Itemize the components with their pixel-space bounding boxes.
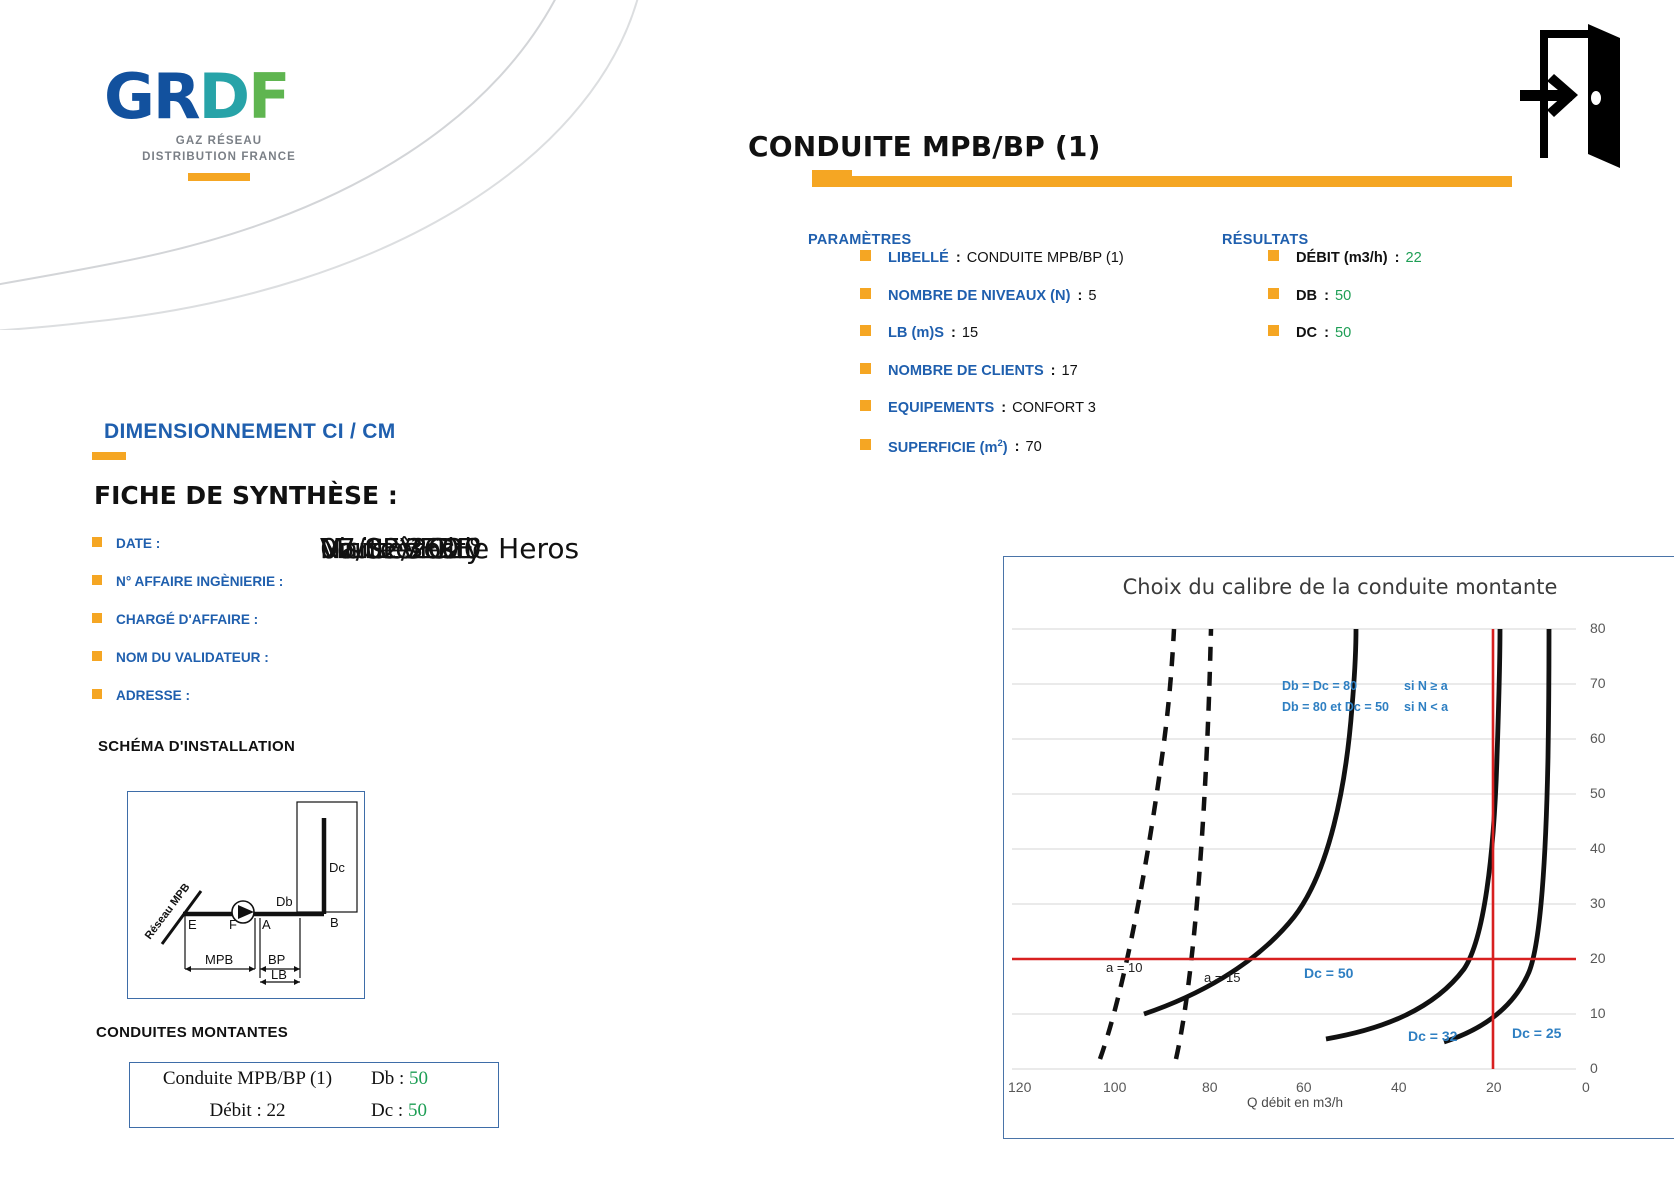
result-separator: : bbox=[1324, 288, 1329, 304]
param-value: 17 bbox=[1062, 363, 1078, 379]
field-charge-affaire: CHARGÉ D'AFFAIRE : Vous êtes le Heros bbox=[92, 612, 283, 638]
curve-a-10 bbox=[1100, 629, 1174, 1059]
field-label: CHARGÉ D'AFFAIRE : bbox=[116, 612, 258, 627]
field-label: NOM DU VALIDATEUR : bbox=[116, 650, 269, 665]
conduite-calibre-chart: Choix du calibre de la conduite montante bbox=[1003, 556, 1674, 1139]
logo-subtitle-line1: GAZ RÉSEAU bbox=[104, 134, 334, 150]
bullet-square-icon bbox=[860, 250, 871, 261]
dimensioning-accent-dash bbox=[92, 452, 126, 460]
schema-point-f: F bbox=[229, 917, 237, 932]
bullet-square-icon bbox=[1268, 325, 1279, 336]
cell-dc-value: 50 bbox=[408, 1100, 427, 1121]
field-label: DATE : bbox=[116, 536, 160, 551]
annotation-dc-32: Dc = 32 bbox=[1408, 1028, 1457, 1044]
annotation-db-dc-80: Db = Dc = 80 bbox=[1282, 679, 1357, 693]
param-value: 15 bbox=[962, 325, 978, 341]
list-item-nombre-clients: NOMBRE DE CLIENTS : 17 bbox=[860, 363, 1124, 379]
schema-point-e: E bbox=[188, 917, 197, 932]
schema-dim-bp: BP bbox=[268, 952, 285, 967]
cell-debit: Débit : 22 bbox=[130, 1100, 365, 1122]
bullet-square-icon bbox=[1268, 250, 1279, 261]
grdf-logo: GRDF GAZ RÉSEAU DISTRIBUTION FRANCE bbox=[104, 66, 334, 181]
param-label: LIBELLÉ bbox=[888, 250, 949, 266]
logo-letter-d: D bbox=[199, 60, 248, 133]
param-separator: : bbox=[951, 325, 956, 341]
logo-letter-r: R bbox=[153, 60, 199, 133]
list-item-debit: DÉBIT (m3/h) : 22 bbox=[1268, 250, 1422, 266]
y-tick-70: 70 bbox=[1590, 675, 1606, 691]
results-list: DÉBIT (m3/h) : 22 DB : 50 DC : 50 bbox=[1268, 250, 1422, 363]
results-heading: RÉSULTATS bbox=[1222, 232, 1308, 248]
y-tick-40: 40 bbox=[1590, 840, 1606, 856]
bullet-square-icon bbox=[860, 288, 871, 299]
annotation-dc-25: Dc = 25 bbox=[1512, 1025, 1561, 1041]
param-label: EQUIPEMENTS bbox=[888, 400, 994, 416]
bullet-square-icon bbox=[92, 651, 102, 661]
list-item-dc: DC : 50 bbox=[1268, 325, 1422, 341]
schema-label-db: Db bbox=[276, 894, 293, 909]
parameters-heading: PARAMÈTRES bbox=[808, 232, 911, 248]
bullet-square-icon bbox=[860, 325, 871, 336]
conduites-montantes-table: Conduite MPB/BP (1) Db : 50 Débit : 22 D… bbox=[129, 1062, 499, 1128]
x-tick-120: 120 bbox=[1008, 1079, 1031, 1095]
cell-conduite-name: Conduite MPB/BP (1) bbox=[130, 1068, 365, 1090]
bullet-square-icon bbox=[860, 363, 871, 374]
field-affaire-ingenierie: N° AFFAIRE INGÈNIERIE : Visite 360 ° bbox=[92, 574, 283, 600]
field-date: DATE : 07/02/2020 bbox=[92, 536, 283, 562]
bullet-square-icon bbox=[1268, 288, 1279, 299]
x-tick-20: 20 bbox=[1486, 1079, 1502, 1095]
schema-diagram-svg: Réseau MPB E F A B Db Dc MPB BP LB bbox=[128, 792, 366, 1000]
param-label: NOMBRE DE CLIENTS bbox=[888, 363, 1044, 379]
list-item-db: DB : 50 bbox=[1268, 288, 1422, 304]
curve-dc-25 bbox=[1444, 629, 1549, 1042]
list-item-lb: LB (m)S : 15 bbox=[860, 325, 1124, 341]
y-tick-80: 80 bbox=[1590, 620, 1606, 636]
cell-dc-sep: : bbox=[398, 1100, 403, 1121]
field-label: N° AFFAIRE INGÈNIERIE : bbox=[116, 574, 283, 589]
x-tick-80: 80 bbox=[1202, 1079, 1218, 1095]
bullet-square-icon bbox=[92, 613, 102, 623]
installation-schema: Réseau MPB E F A B Db Dc MPB BP LB bbox=[127, 791, 365, 999]
result-label: DC bbox=[1296, 325, 1317, 341]
param-label: NOMBRE DE NIVEAUX (N) bbox=[888, 288, 1070, 304]
cell-db-value: 50 bbox=[409, 1068, 428, 1089]
y-tick-60: 60 bbox=[1590, 730, 1606, 746]
annotation-si-n-ge-a: si N ≥ a bbox=[1404, 679, 1448, 693]
field-value: Nantes City bbox=[320, 532, 482, 565]
list-item-libelle: LIBELLÉ : CONDUITE MPB/BP (1) bbox=[860, 250, 1124, 266]
list-item-equipements: EQUIPEMENTS : CONFORT 3 bbox=[860, 400, 1124, 416]
cell-db-key: Db bbox=[371, 1068, 394, 1089]
param-separator: : bbox=[956, 250, 961, 266]
schema-label-dc: Dc bbox=[329, 860, 345, 875]
fiche-fields-list: DATE : 07/02/2020 N° AFFAIRE INGÈNIERIE … bbox=[92, 536, 283, 726]
list-item-nombre-niveaux: NOMBRE DE NIVEAUX (N) : 5 bbox=[860, 288, 1124, 304]
result-label: DÉBIT (m3/h) bbox=[1296, 250, 1388, 266]
cell-db-sep: : bbox=[399, 1068, 404, 1089]
x-tick-60: 60 bbox=[1296, 1079, 1312, 1095]
result-value: 50 bbox=[1335, 325, 1351, 341]
param-label: SUPERFICIE (m2) bbox=[888, 438, 1008, 456]
exit-door-icon[interactable] bbox=[1520, 22, 1628, 170]
schema-dim-mpb: MPB bbox=[205, 952, 233, 967]
chart-x-axis-label: Q débit en m3/h bbox=[914, 1095, 1674, 1110]
field-nom-validateur: NOM DU VALIDATEUR : Mr SEVERE bbox=[92, 650, 283, 676]
logo-wordmark: GRDF bbox=[104, 66, 334, 128]
logo-subtitle-line2: DISTRIBUTION FRANCE bbox=[104, 150, 334, 166]
x-tick-40: 40 bbox=[1391, 1079, 1407, 1095]
param-label: LB (m)S bbox=[888, 325, 944, 341]
cell-dc-key: Dc bbox=[371, 1100, 393, 1121]
param-value: CONFORT 3 bbox=[1012, 400, 1096, 416]
fiche-heading: FICHE DE SYNTHÈSE : bbox=[94, 481, 398, 510]
title-accent-stub bbox=[812, 170, 852, 177]
bullet-square-icon bbox=[92, 575, 102, 585]
result-label: DB bbox=[1296, 288, 1317, 304]
x-tick-0: 0 bbox=[1582, 1079, 1590, 1095]
param-separator: : bbox=[1051, 363, 1056, 379]
y-tick-10: 10 bbox=[1590, 1005, 1606, 1021]
schema-point-b: B bbox=[330, 915, 339, 930]
annotation-a-10: a = 10 bbox=[1106, 960, 1143, 975]
y-tick-50: 50 bbox=[1590, 785, 1606, 801]
y-tick-20: 20 bbox=[1590, 950, 1606, 966]
schema-dim-lb: LB bbox=[271, 967, 287, 982]
param-value: CONDUITE MPB/BP (1) bbox=[967, 250, 1124, 266]
param-value: 70 bbox=[1026, 439, 1042, 455]
result-value: 50 bbox=[1335, 288, 1351, 304]
chart-plot bbox=[1004, 557, 1674, 1140]
title-accent-bar bbox=[812, 176, 1512, 187]
cell-db: Db : 50 bbox=[365, 1068, 498, 1090]
cell-debit-value: 22 bbox=[267, 1100, 286, 1121]
y-tick-30: 30 bbox=[1590, 895, 1606, 911]
logo-letter-f: F bbox=[248, 60, 288, 133]
annotation-si-n-lt-a: si N < a bbox=[1404, 700, 1448, 714]
bullet-square-icon bbox=[860, 400, 871, 411]
param-value: 5 bbox=[1088, 288, 1096, 304]
schema-section-label: SCHÉMA D'INSTALLATION bbox=[98, 738, 295, 755]
table-row: Conduite MPB/BP (1) Db : 50 bbox=[130, 1063, 498, 1095]
bullet-square-icon bbox=[860, 439, 871, 450]
result-value: 22 bbox=[1406, 250, 1422, 266]
annotation-db-80-dc-50: Db = 80 et Dc = 50 bbox=[1282, 700, 1389, 714]
page-title: CONDUITE MPB/BP (1) bbox=[748, 130, 1101, 163]
annotation-dc-50: Dc = 50 bbox=[1304, 965, 1353, 981]
param-separator: : bbox=[1077, 288, 1082, 304]
schema-point-a: A bbox=[262, 917, 271, 932]
field-adresse: ADRESSE : Nantes City bbox=[92, 688, 283, 714]
result-separator: : bbox=[1324, 325, 1329, 341]
dimensioning-heading: DIMENSIONNEMENT CI / CM bbox=[104, 420, 396, 444]
logo-accent-dash bbox=[188, 173, 250, 181]
bullet-square-icon bbox=[92, 689, 102, 699]
list-item-superficie: SUPERFICIE (m2) : 70 bbox=[860, 438, 1124, 456]
parameters-list: LIBELLÉ : CONDUITE MPB/BP (1) NOMBRE DE … bbox=[860, 250, 1124, 477]
logo-subtitle: GAZ RÉSEAU DISTRIBUTION FRANCE bbox=[104, 134, 334, 165]
y-tick-0: 0 bbox=[1590, 1060, 1598, 1076]
table-row: Débit : 22 Dc : 50 bbox=[130, 1095, 498, 1127]
field-label: ADRESSE : bbox=[116, 688, 190, 703]
param-separator: : bbox=[1001, 400, 1006, 416]
annotation-a-15: a = 15 bbox=[1204, 970, 1241, 985]
cell-dc: Dc : 50 bbox=[365, 1100, 498, 1122]
cell-debit-label: Débit : bbox=[210, 1100, 262, 1121]
param-separator: : bbox=[1015, 439, 1020, 455]
logo-letter-g: G bbox=[104, 60, 153, 133]
x-tick-100: 100 bbox=[1103, 1079, 1126, 1095]
result-separator: : bbox=[1395, 250, 1400, 266]
conduites-montantes-label: CONDUITES MONTANTES bbox=[96, 1024, 288, 1041]
bullet-square-icon bbox=[92, 537, 102, 547]
